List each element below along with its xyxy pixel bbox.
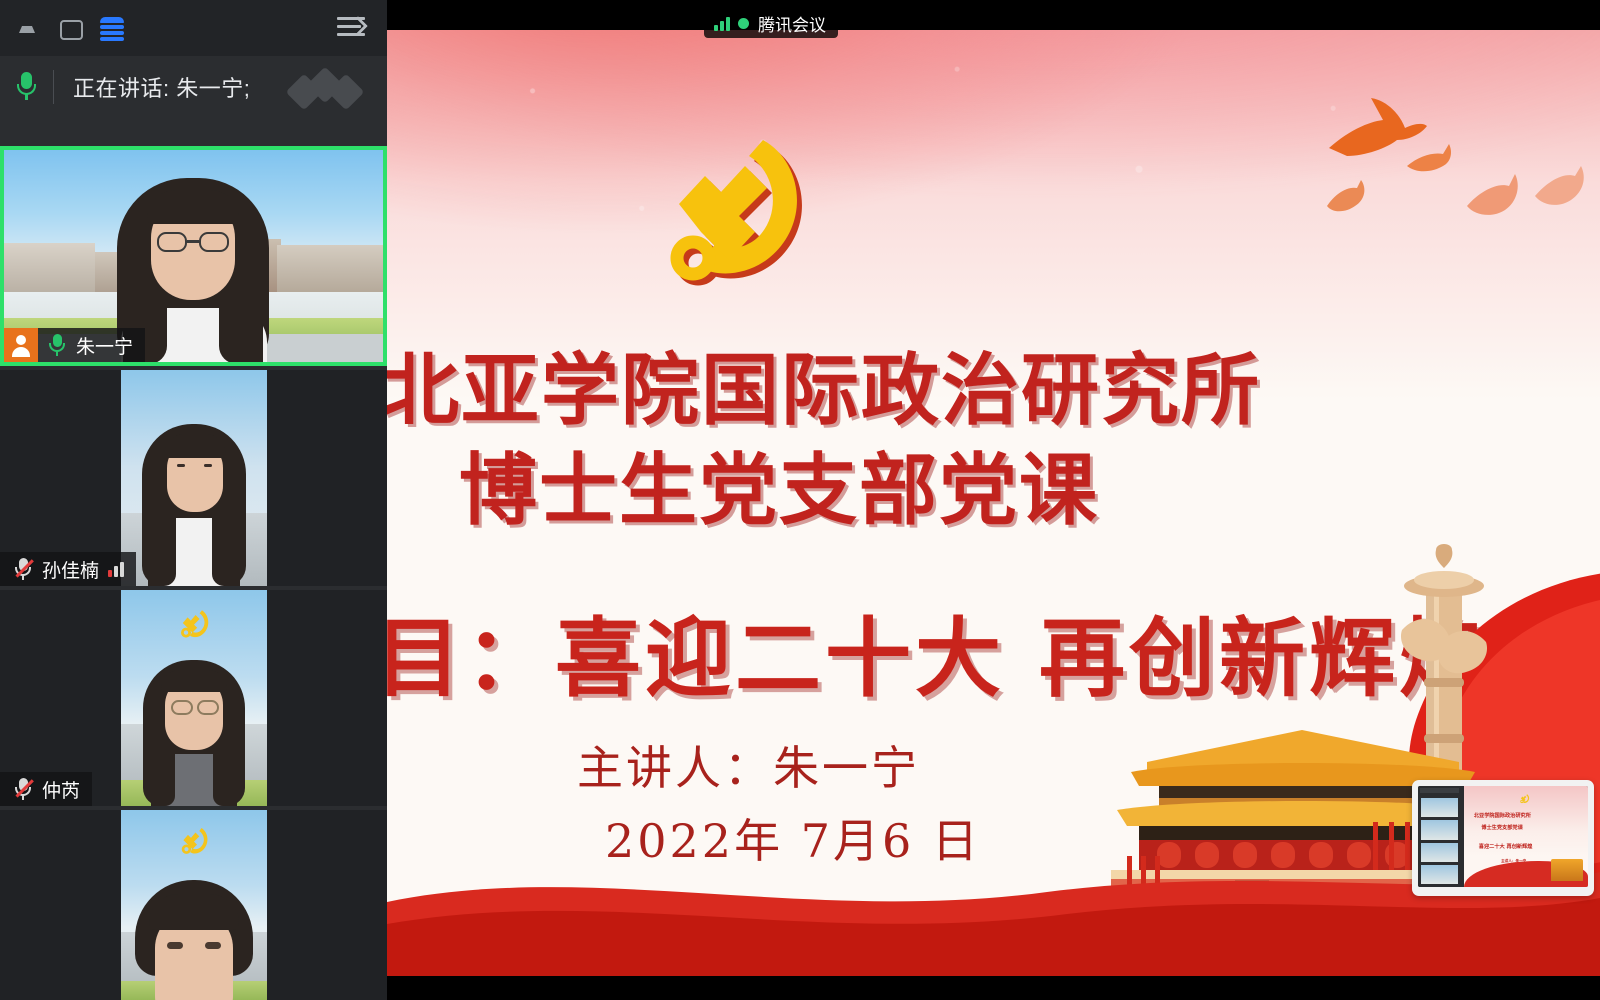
cpc-hammer-sickle-emblem (174, 607, 214, 643)
cpc-hammer-sickle-emblem (1518, 793, 1531, 805)
minimize-icon[interactable] (14, 15, 40, 41)
signal-bars-icon (108, 561, 124, 577)
shared-screen-slide: 北亚学院国际政治研究所 博士生党支部党课 目：喜迎二十大 再创新辉煌 主讲人：朱… (387, 0, 1600, 1000)
tencent-meeting-window: 正在讲话: 朱一宁; (0, 0, 1600, 1000)
flying-dove-icon (1531, 164, 1589, 210)
participant-video (121, 590, 267, 806)
slide-title-line-2: 博士生党支部党课 (459, 428, 1099, 540)
pip-slide: 北亚学院国际政治研究所 博士生党支部党课 喜迎二十大 再创新辉煌 主讲人：朱一宁… (1464, 786, 1588, 887)
signal-bars-icon (714, 16, 730, 31)
participants-sidebar: 正在讲话: 朱一宁; (0, 0, 387, 1000)
participant-name-badge: 孙佳楠 (0, 552, 136, 586)
participant-name: 仲芮 (42, 776, 80, 803)
active-speaker-bar: 正在讲话: 朱一宁; (0, 56, 387, 118)
microphone-icon (16, 72, 36, 102)
participant-video (121, 370, 267, 586)
slide-speaker-line: 主讲人：朱一宁 (577, 732, 920, 798)
pip-subtitle: 喜迎二十大 再创新辉煌 (1479, 843, 1533, 850)
pip-title-line-1: 北亚学院国际政治研究所 (1474, 812, 1531, 819)
microphone-muted-icon (15, 777, 32, 801)
flying-dove-icon (1403, 142, 1455, 176)
flying-dove-icon (1463, 172, 1525, 220)
microphone-on-icon (49, 333, 66, 357)
recording-status-dot (738, 18, 749, 29)
meeting-status-badge: 腾讯会议 (704, 8, 838, 38)
meeting-app-name: 腾讯会议 (758, 11, 826, 36)
participant-tile-zhongrui[interactable]: 仲芮 (0, 590, 387, 806)
flying-dove-icon (1325, 178, 1369, 216)
slide-title-line-1: 北亚学院国际政治研究所 (387, 328, 1261, 440)
pip-title-line-2: 博士生党支部党课 (1481, 824, 1523, 831)
participant-name-badge: 仲芮 (0, 772, 92, 806)
microphone-muted-icon (15, 557, 32, 581)
divider (53, 70, 54, 104)
participant-name: 孙佳楠 (42, 556, 99, 583)
slide-canvas: 北亚学院国际政治研究所 博士生党支部党课 目：喜迎二十大 再创新辉煌 主讲人：朱… (387, 30, 1600, 976)
cpc-hammer-sickle-emblem (645, 136, 825, 301)
active-speaker-label: 正在讲话: 朱一宁; (73, 71, 250, 103)
cpc-hammer-sickle-emblem (175, 825, 213, 859)
window-icon[interactable] (56, 15, 82, 41)
collapse-panel-icon[interactable] (337, 15, 371, 41)
list-view-icon[interactable] (98, 14, 126, 42)
tencent-meeting-watermark (291, 72, 369, 106)
participant-tile-zhuyining[interactable]: 朱一宁 (0, 146, 387, 366)
letterbox-top (387, 0, 1600, 30)
participant-tile-4[interactable] (0, 810, 387, 1000)
participant-tile-sunjianan[interactable]: 孙佳楠 (0, 370, 387, 586)
participant-name: 朱一宁 (76, 332, 133, 359)
letterbox-bottom (387, 976, 1600, 1000)
pip-sidebar (1418, 786, 1464, 887)
user-avatar-icon (4, 328, 38, 362)
screen-share-self-preview[interactable]: 北亚学院国际政治研究所 博士生党支部党课 喜迎二十大 再创新辉煌 主讲人：朱一宁… (1412, 780, 1594, 896)
window-toolbar (0, 0, 387, 56)
participant-name-badge: 朱一宁 (4, 328, 145, 362)
participant-video (121, 810, 267, 1000)
